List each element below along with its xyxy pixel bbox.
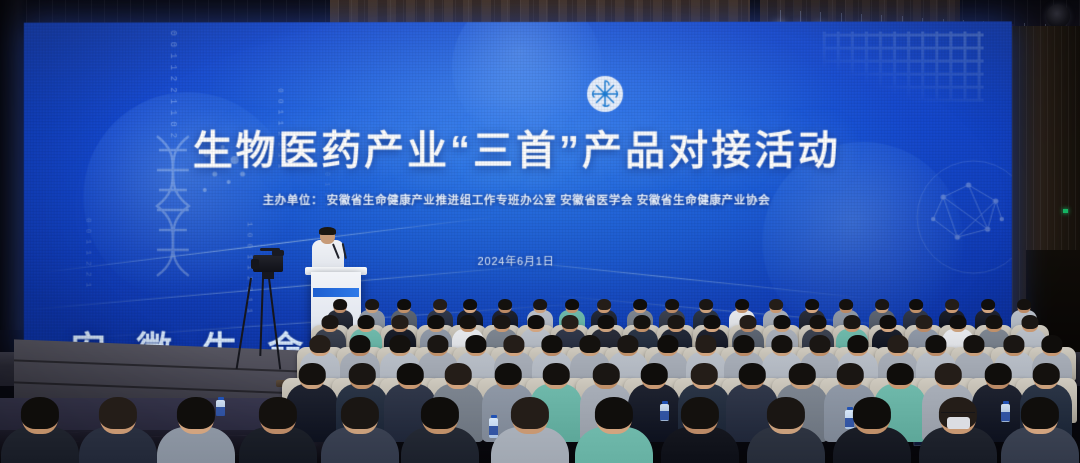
audience-member-hair: [541, 335, 562, 353]
audience-member-hair: [21, 397, 59, 429]
bottle-cap: [662, 401, 668, 404]
audience-member-hair: [309, 335, 330, 353]
audience-member-hair: [99, 397, 137, 429]
audience-member-hair: [1022, 315, 1039, 329]
audience-member-hair: [774, 315, 791, 329]
audience-member-hair: [950, 315, 967, 329]
audience-member-hair: [789, 363, 816, 385]
audience-member-hair: [634, 315, 651, 329]
audience-member-hair: [397, 363, 424, 385]
audience-member-hair: [465, 335, 486, 353]
audience-member-hair: [445, 363, 472, 385]
audience-member-hair: [565, 299, 579, 310]
audience-member-hair: [837, 363, 864, 385]
camera-viewfinder: [272, 250, 284, 256]
audience-member-hair: [177, 397, 215, 429]
podium-accent-band: [313, 288, 359, 297]
audience-member-hair: [767, 397, 805, 429]
audience-member-hair: [392, 315, 409, 329]
audience-member-hair: [668, 315, 685, 329]
audience-member-hair: [769, 299, 783, 310]
audience-member-hair: [503, 335, 524, 353]
water-bottle: [216, 400, 225, 416]
audience-member-hair: [397, 299, 411, 310]
audience-member-hair: [333, 299, 347, 310]
audience-member-hair: [925, 335, 946, 353]
audience-member-hair: [1033, 363, 1060, 385]
audience-member-hair: [511, 397, 549, 429]
audience-member-hair: [595, 397, 633, 429]
audience-member-hair: [1017, 299, 1031, 310]
audience-member-hair: [460, 315, 477, 329]
audience-member-hair: [633, 299, 647, 310]
audience-member-hair: [699, 299, 713, 310]
audience-member-hair: [428, 315, 445, 329]
bottle-cap: [1003, 401, 1009, 404]
audience-member-hair: [739, 363, 766, 385]
bottle-label: [660, 411, 669, 420]
audience-member-hair: [341, 397, 379, 429]
audience-member-hair: [735, 299, 749, 310]
audience-member-hair: [433, 299, 447, 310]
audience-member-hair: [322, 315, 339, 329]
audience-member-hair: [805, 299, 819, 310]
audience-member-hair: [981, 299, 995, 310]
audience-member-hair: [259, 397, 297, 429]
audience-member-hair: [593, 363, 620, 385]
audience-member-hair: [349, 335, 370, 353]
audience-member-hair: [641, 363, 668, 385]
audience-member-hair: [880, 315, 897, 329]
audience-member-hair: [579, 335, 600, 353]
bottle-cap: [847, 407, 853, 410]
audience-member-hair: [681, 397, 719, 429]
audience-member-hair: [657, 335, 678, 353]
audience-member-hair: [1021, 397, 1059, 429]
led-backdrop-screen: 0011221102 00112211 100112211 0011221 01…: [24, 21, 1012, 356]
audience-member-hair: [533, 299, 547, 310]
audience-member-hair: [495, 363, 522, 385]
speaker-hair: [319, 227, 336, 235]
audience-member-hair: [887, 363, 914, 385]
audience-member-hair: [695, 335, 716, 353]
audience-member-hair: [349, 363, 376, 385]
audience-member-hair: [875, 299, 889, 310]
audience-member-hair: [986, 315, 1003, 329]
status-led-icon: [1063, 209, 1068, 213]
audience-member-hair: [809, 335, 830, 353]
audience-member-hair: [935, 363, 962, 385]
audience-member-hair: [963, 335, 984, 353]
ceiling-speaker-icon: [1046, 4, 1070, 28]
audience-member-hair: [421, 397, 459, 429]
audience-member-hair: [389, 335, 410, 353]
audience-member-hair: [847, 335, 868, 353]
audience-member-hair: [617, 335, 638, 353]
audience-member-hair: [597, 299, 611, 310]
audience-member-hair: [839, 299, 853, 310]
audience-member-hair: [665, 299, 679, 310]
audience-member-hair: [598, 315, 615, 329]
audience-member-hair: [498, 299, 512, 310]
audience-member-hair: [463, 299, 477, 310]
audience-member-hair: [844, 315, 861, 329]
led-pixel-grid: [24, 21, 1012, 356]
water-bottle: [1001, 404, 1010, 422]
audience-member-hair: [985, 363, 1012, 385]
water-bottle: [489, 418, 498, 438]
audience-member-hair: [945, 299, 959, 310]
audience-member-hair: [562, 315, 579, 329]
audience-member-hair: [299, 363, 326, 385]
audience-member-hair: [909, 299, 923, 310]
audience-member-hair: [916, 315, 933, 329]
audience-member-hair: [771, 335, 792, 353]
bottle-label: [216, 407, 225, 416]
audience-member-hair: [528, 315, 545, 329]
audience-member-hair: [427, 335, 448, 353]
conference-hall-photo: 0011221102 00112211 100112211 0011221 01…: [0, 0, 1080, 463]
bottle-cap: [491, 415, 497, 418]
audience-member-hair: [733, 335, 754, 353]
audience-member-hair: [1041, 335, 1062, 353]
bottle-label: [489, 426, 498, 435]
audience-member-hair: [365, 299, 379, 310]
audience-member-hair: [494, 315, 511, 329]
audience-member-hair: [740, 315, 757, 329]
audience-member-hair: [691, 363, 718, 385]
audience-member-hair: [1003, 335, 1024, 353]
face-mask-icon: [947, 417, 969, 429]
bottle-cap: [218, 397, 224, 400]
bottle-label: [1001, 412, 1010, 421]
audience-member-hair: [887, 335, 908, 353]
audience-member-hair: [853, 397, 891, 429]
eyeglasses-icon: [941, 412, 974, 416]
camera-lens-icon: [251, 259, 259, 269]
audience-member-hair: [358, 315, 375, 329]
audience-member-hair: [543, 363, 570, 385]
left-wall-pillar: [0, 0, 26, 330]
audience-member-hair: [704, 315, 721, 329]
audience-member-hair: [810, 315, 827, 329]
water-bottle: [660, 404, 669, 421]
